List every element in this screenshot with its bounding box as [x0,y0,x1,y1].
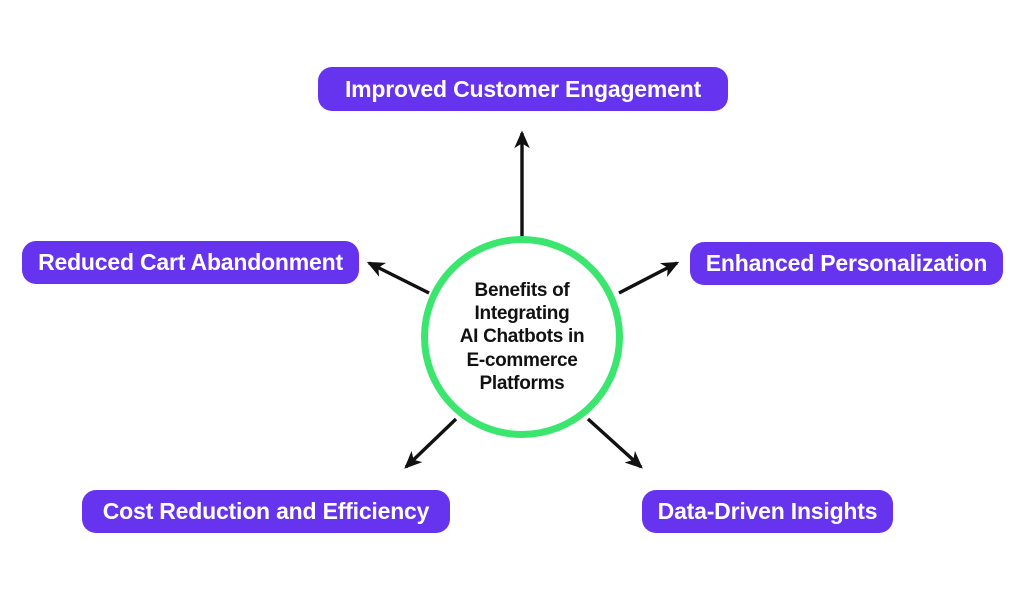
center-hub-label: Benefits of Integrating AI Chatbots in E… [460,279,585,395]
node-data-driven-insights[interactable]: Data-Driven Insights [642,490,893,533]
node-enhanced-personalization[interactable]: Enhanced Personalization [690,242,1003,285]
node-cost-reduction-and-efficiency[interactable]: Cost Reduction and Efficiency [82,490,450,533]
node-label: Enhanced Personalization [706,252,988,275]
arrow-to-lower-right [588,419,641,467]
node-label: Improved Customer Engagement [345,78,701,101]
diagram-canvas: Improved Customer Engagement Reduced Car… [0,0,1024,598]
arrow-to-lower-left [406,419,456,467]
node-label: Reduced Cart Abandonment [38,251,343,274]
arrow-to-upper-left [369,263,429,293]
arrow-to-upper-right [619,263,677,293]
node-label: Data-Driven Insights [658,500,878,523]
node-reduced-cart-abandonment[interactable]: Reduced Cart Abandonment [22,241,359,284]
node-improved-customer-engagement[interactable]: Improved Customer Engagement [318,67,728,111]
center-hub-circle[interactable]: Benefits of Integrating AI Chatbots in E… [421,236,623,438]
node-label: Cost Reduction and Efficiency [103,500,429,523]
